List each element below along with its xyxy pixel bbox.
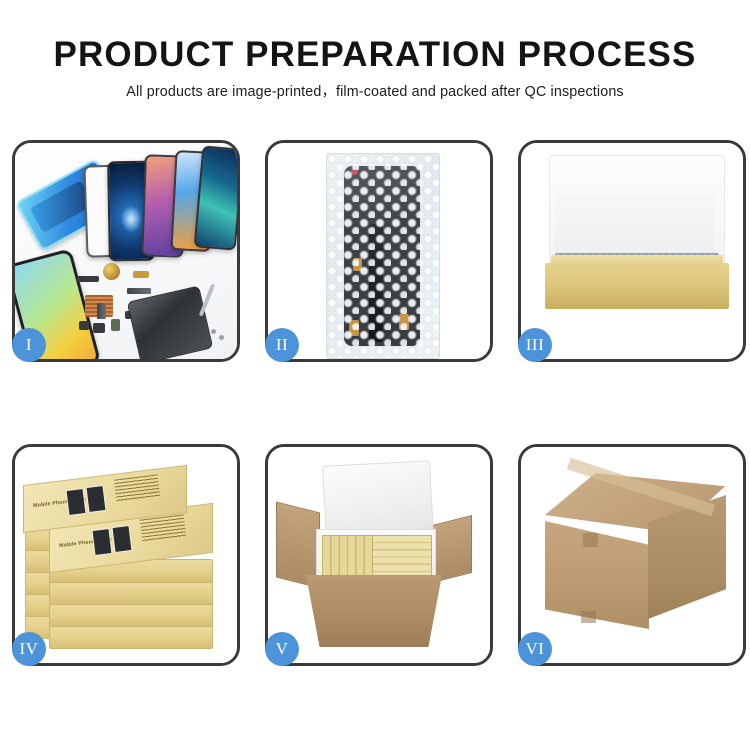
step-iii-photo xyxy=(521,143,743,359)
carton-body xyxy=(306,575,442,647)
kraft-box-stacked xyxy=(49,625,213,649)
header: PRODUCT PREPARATION PROCESS All products… xyxy=(0,34,750,102)
carton-hand-hole xyxy=(583,533,598,547)
kraft-box-tray xyxy=(545,263,729,309)
page-title: PRODUCT PREPARATION PROCESS xyxy=(0,34,750,76)
step-i-photo xyxy=(15,143,237,359)
box-label-thumbnail xyxy=(65,488,86,516)
step-card-vi[interactable]: VI xyxy=(518,444,746,666)
step-badge-iv: IV xyxy=(12,632,46,666)
step-v-photo xyxy=(268,447,490,663)
part-camera-module xyxy=(79,321,89,330)
step-vi-photo xyxy=(521,447,743,663)
part-screw xyxy=(211,329,216,334)
step-card-iii[interactable]: III xyxy=(518,140,746,362)
step-badge-iii: III xyxy=(518,328,552,362)
step-card-iv[interactable]: Mobile Phone Spare Parts Mobile Phone Sp… xyxy=(12,444,240,666)
part-flex-cable-small xyxy=(97,303,106,319)
box-label-thumbnail xyxy=(85,485,106,513)
carton-hand-hole xyxy=(581,611,596,623)
step-card-v[interactable]: V xyxy=(265,444,493,666)
step-badge-v: V xyxy=(265,632,299,666)
product-preparation-process-page: PRODUCT PREPARATION PROCESS All products… xyxy=(0,0,750,750)
part-speaker-coin xyxy=(103,263,120,280)
bubble-wrap-bag xyxy=(326,153,440,359)
step-ii-photo xyxy=(268,143,490,359)
step-badge-ii: II xyxy=(265,328,299,362)
step-card-i[interactable]: I xyxy=(12,140,240,362)
step-iv-photo: Mobile Phone Spare Parts Mobile Phone Sp… xyxy=(15,447,237,663)
part-button-module xyxy=(93,323,105,333)
box-label-thumbnail xyxy=(111,525,132,553)
step-badge-vi: VI xyxy=(518,632,552,666)
part-battery-cell xyxy=(111,319,120,331)
page-subtitle: All products are image-printed，film-coat… xyxy=(0,83,750,102)
box-label-thumbnail xyxy=(91,528,112,556)
kraft-box-stacked xyxy=(49,581,213,605)
part-gold-connector xyxy=(133,271,149,278)
kraft-box-stacked xyxy=(49,603,213,627)
lcd-screen-teal xyxy=(194,145,237,250)
part-flex-cable xyxy=(127,288,151,294)
part-screw xyxy=(219,335,224,340)
step-badge-i: I xyxy=(12,328,46,362)
part-phone-back-housing xyxy=(127,285,214,359)
inner-boxes-row xyxy=(372,535,432,577)
bubble-texture xyxy=(327,154,439,358)
part-bracket xyxy=(77,276,99,282)
process-steps-grid: I II xyxy=(12,140,745,688)
step-card-ii[interactable]: II xyxy=(265,140,493,362)
foam-lid xyxy=(322,460,434,540)
